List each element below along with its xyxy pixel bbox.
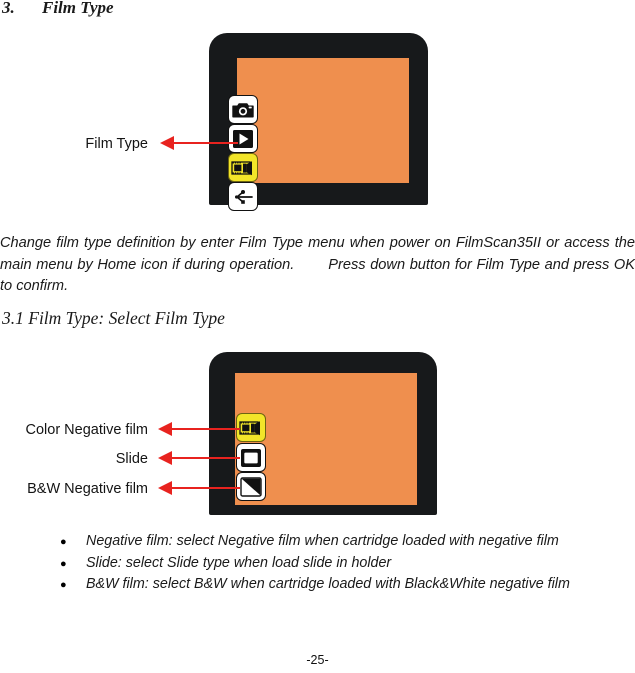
callout-arrow-film-type: [160, 136, 238, 150]
list-item: ● Negative film: select Negative film wh…: [60, 531, 635, 553]
film-cartridge-icon[interactable]: [236, 413, 266, 442]
device-illustration-main-menu: [209, 33, 428, 205]
arrow-shaft: [172, 142, 238, 144]
callout-arrow-bw-negative-film: [158, 481, 240, 495]
bullet-dot-icon: ●: [60, 575, 86, 596]
page-title: 3.Film Type: [2, 0, 114, 18]
arrow-shaft: [170, 457, 240, 459]
list-item-text: Negative film: select Negative film when…: [86, 531, 559, 552]
device-illustration-film-type-menu: [209, 352, 437, 515]
camera-icon-glyph: [232, 101, 254, 119]
usb-icon[interactable]: [228, 182, 258, 211]
list-item: ● Slide: select Slide type when load sli…: [60, 553, 635, 575]
callout-label-color-negative-film: Color Negative film: [0, 422, 148, 438]
section-number: 3.: [2, 0, 42, 18]
slide-frame-icon-glyph: [240, 448, 262, 468]
film-cartridge-icon-glyph: [231, 159, 255, 177]
arrow-shaft: [170, 428, 240, 430]
camera-icon[interactable]: [228, 95, 258, 124]
usb-icon-glyph: [232, 188, 254, 206]
bullet-dot-icon: ●: [60, 532, 86, 553]
bw-diagonal-icon-glyph: [240, 477, 262, 497]
callout-label-film-type: Film Type: [0, 136, 148, 152]
callout-label-slide: Slide: [0, 451, 148, 467]
bw-diagonal-icon[interactable]: [236, 472, 266, 501]
list-item-text: Slide: select Slide type when load slide…: [86, 553, 391, 574]
bullet-dot-icon: ●: [60, 554, 86, 575]
slide-frame-icon[interactable]: [236, 443, 266, 472]
film-cartridge-icon[interactable]: [228, 153, 258, 182]
arrow-shaft: [170, 487, 240, 489]
callout-label-bw-negative-film: B&W Negative film: [0, 481, 148, 497]
page-number: -25-: [0, 653, 635, 667]
callout-arrow-color-negative-film: [158, 422, 240, 436]
body-paragraph: Change film type definition by enter Fil…: [0, 233, 635, 298]
section-title: Film Type: [42, 0, 114, 17]
list-item: ● B&W film: select B&W when cartridge lo…: [60, 574, 635, 596]
device-screen: [237, 58, 409, 183]
callout-arrow-slide: [158, 451, 240, 465]
film-cartridge-icon-glyph: [239, 419, 263, 437]
film-type-bullet-list: ● Negative film: select Negative film wh…: [60, 531, 635, 596]
subsection-title: 3.1 Film Type: Select Film Type: [2, 308, 225, 329]
list-item-text: B&W film: select B&W when cartridge load…: [86, 574, 570, 595]
